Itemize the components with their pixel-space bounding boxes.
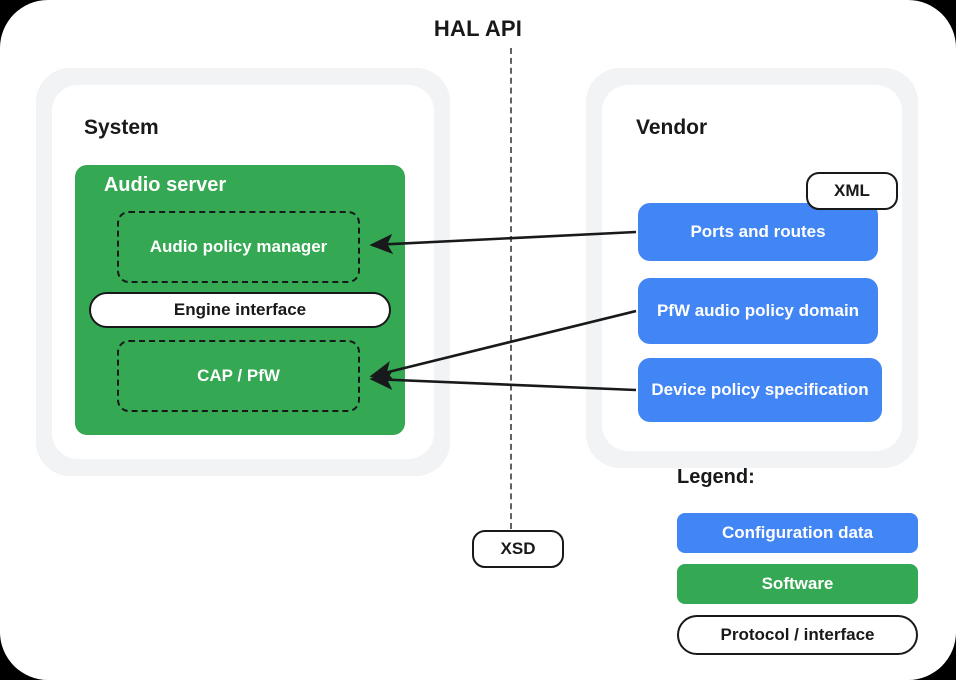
legend-title: Legend:: [677, 466, 755, 489]
legend-item-protocol-interface: Protocol / interface: [677, 615, 918, 655]
cap-pfw-label: CAP / PfW: [197, 366, 280, 386]
hal-api-boundary-line: [510, 48, 512, 529]
xml-tag[interactable]: XML: [806, 172, 898, 210]
ports-and-routes-block[interactable]: Ports and routes: [638, 203, 878, 261]
diagram-canvas: HAL API System Audio server Audio policy…: [0, 0, 956, 680]
ports-and-routes-label: Ports and routes: [690, 221, 825, 242]
xml-tag-label: XML: [834, 181, 870, 201]
audio-server-title: Audio server: [0, 174, 330, 197]
engine-interface-label: Engine interface: [174, 300, 306, 320]
legend-item-label: Configuration data: [722, 523, 873, 543]
legend-item-software: Software: [677, 564, 918, 604]
pfw-audio-policy-domain-block[interactable]: PfW audio policy domain: [638, 278, 878, 344]
legend-item-configuration-data: Configuration data: [677, 513, 918, 553]
audio-policy-manager-block[interactable]: Audio policy manager: [117, 211, 360, 283]
xsd-tag[interactable]: XSD: [472, 530, 564, 568]
system-group-label: System: [84, 116, 159, 140]
diagram-card: HAL API System Audio server Audio policy…: [0, 0, 956, 680]
xsd-tag-label: XSD: [501, 539, 536, 559]
legend-item-label: Software: [762, 574, 834, 594]
pfw-audio-policy-domain-label: PfW audio policy domain: [657, 300, 859, 321]
engine-interface-block[interactable]: Engine interface: [89, 292, 391, 328]
device-policy-specification-block[interactable]: Device policy specification: [638, 358, 882, 422]
audio-policy-manager-label: Audio policy manager: [150, 237, 328, 257]
vendor-group-label: Vendor: [636, 116, 707, 140]
hal-api-title: HAL API: [0, 16, 956, 42]
cap-pfw-block[interactable]: CAP / PfW: [117, 340, 360, 412]
device-policy-specification-label: Device policy specification: [651, 379, 868, 400]
legend-item-label: Protocol / interface: [721, 625, 875, 645]
